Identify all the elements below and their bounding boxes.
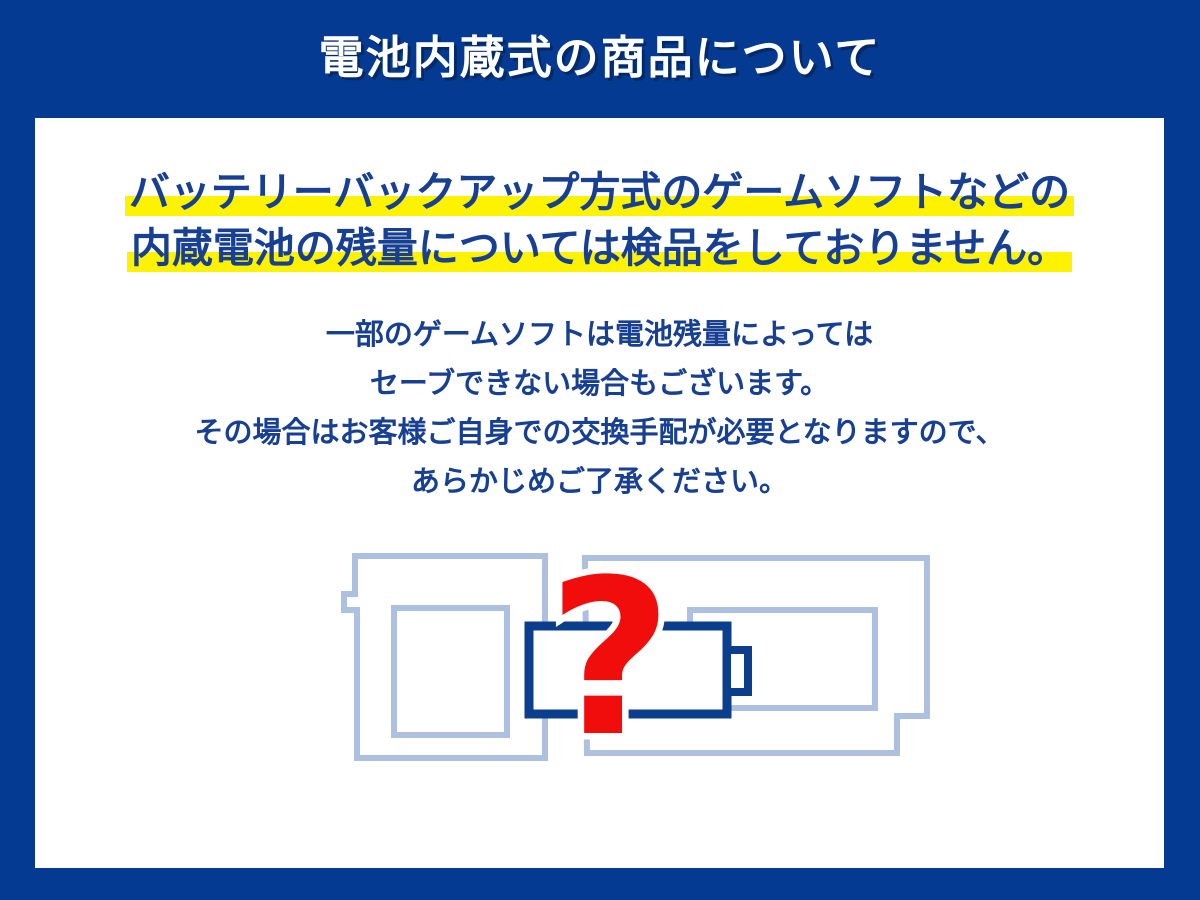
headline-line-2: 内蔵電池の残量については検品をしておりません。 <box>131 220 1068 276</box>
content-card: バッテリーバックアップ方式のゲームソフトなどの 内蔵電池の残量については検品をし… <box>35 118 1164 868</box>
svg-text:?: ? <box>548 548 673 784</box>
body-copy-block: 一部のゲームソフトは電池残量によっては セーブできない場合もございます。 その場… <box>35 310 1164 506</box>
poster-root: 電池内蔵式の商品について バッテリーバックアップ方式のゲームソフトなどの 内蔵電… <box>0 0 1200 900</box>
headline-block: バッテリーバックアップ方式のゲームソフトなどの 内蔵電池の残量については検品をし… <box>35 164 1164 276</box>
headline-line-1-text: バッテリーバックアップ方式のゲームソフトなどの <box>129 168 1070 216</box>
body-line-4: あらかじめご了承ください。 <box>35 457 1164 506</box>
battery-terminal-icon <box>727 650 748 692</box>
body-line-2: セーブできない場合もございます。 <box>35 359 1164 408</box>
game-cartridge-left-icon <box>344 556 545 758</box>
headline-line-1: バッテリーバックアップ方式のゲームソフトなどの <box>129 164 1070 220</box>
battery-illustration: ? <box>300 548 960 798</box>
question-mark-icon: ? <box>548 548 673 784</box>
title-bar: 電池内蔵式の商品について <box>0 0 1200 118</box>
page-title: 電池内蔵式の商品について <box>319 35 882 84</box>
game-cartridge-left-label-icon <box>394 608 507 735</box>
headline-line-2-text: 内蔵電池の残量については検品をしておりません。 <box>131 224 1068 272</box>
body-line-1: 一部のゲームソフトは電池残量によっては <box>35 310 1164 359</box>
body-line-3: その場合はお客様ご自身での交換手配が必要となりますので、 <box>35 408 1164 457</box>
